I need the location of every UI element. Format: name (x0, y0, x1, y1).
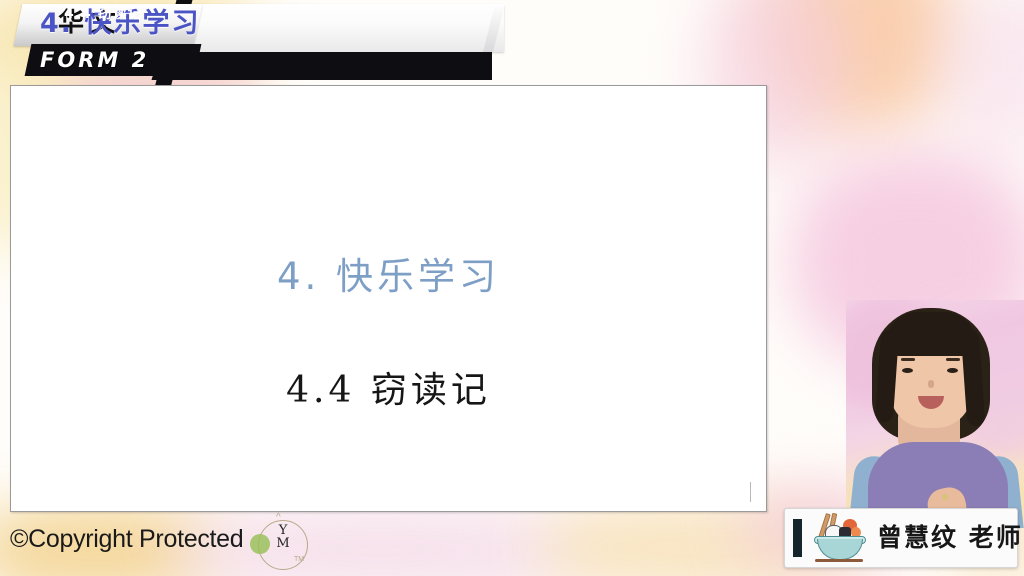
form-label: FORM 2 (40, 46, 210, 74)
slide-canvas: 4. 快乐学习 4.4 窃读记 (10, 85, 767, 512)
presenter-video (846, 300, 1024, 528)
nameplate-accent-bar (793, 519, 802, 557)
section-title: 4.4 窃读记 (64, 2, 143, 26)
presenter-ring (942, 494, 948, 500)
watermark-letters: YM (270, 524, 296, 550)
presenter-nose (928, 380, 934, 388)
text-caret (750, 482, 751, 502)
presenter-eye-right (947, 368, 958, 373)
teacher-name: 曾慧纹 老师 (877, 517, 1023, 559)
watermark-logo: ^ YM TM (248, 512, 310, 574)
slide-subtitle: 4.4 窃读记 (11, 361, 766, 413)
lesson-video-frame: 华文 FORM 2 4. 快乐学习 4.4 窃读记 4. 快乐学习 4.4 窃读… (0, 0, 1024, 576)
header-banner: 华文 FORM 2 4. 快乐学习 4.4 窃读记 (0, 0, 520, 86)
watermark-leaf-icon (250, 534, 270, 554)
chapter-title-band (186, 4, 504, 52)
watermark-tick-icon: ^ (276, 512, 281, 523)
ramen-bowl-icon (809, 513, 871, 565)
bowl-base (815, 559, 863, 562)
bowl-body (817, 539, 863, 560)
teacher-nameplate: 曾慧纹 老师 (784, 508, 1018, 568)
watermark-tm: TM (294, 556, 304, 563)
presenter-brow-right (946, 358, 960, 361)
presenter-brow-left (901, 358, 915, 361)
copyright-notice: ©Copyright Protected (10, 525, 243, 554)
presenter-eye-left (902, 368, 913, 373)
bg-wash-pink-corner (930, 0, 1024, 150)
section-title-band (170, 52, 492, 80)
slide-title: 4. 快乐学习 (11, 246, 766, 300)
